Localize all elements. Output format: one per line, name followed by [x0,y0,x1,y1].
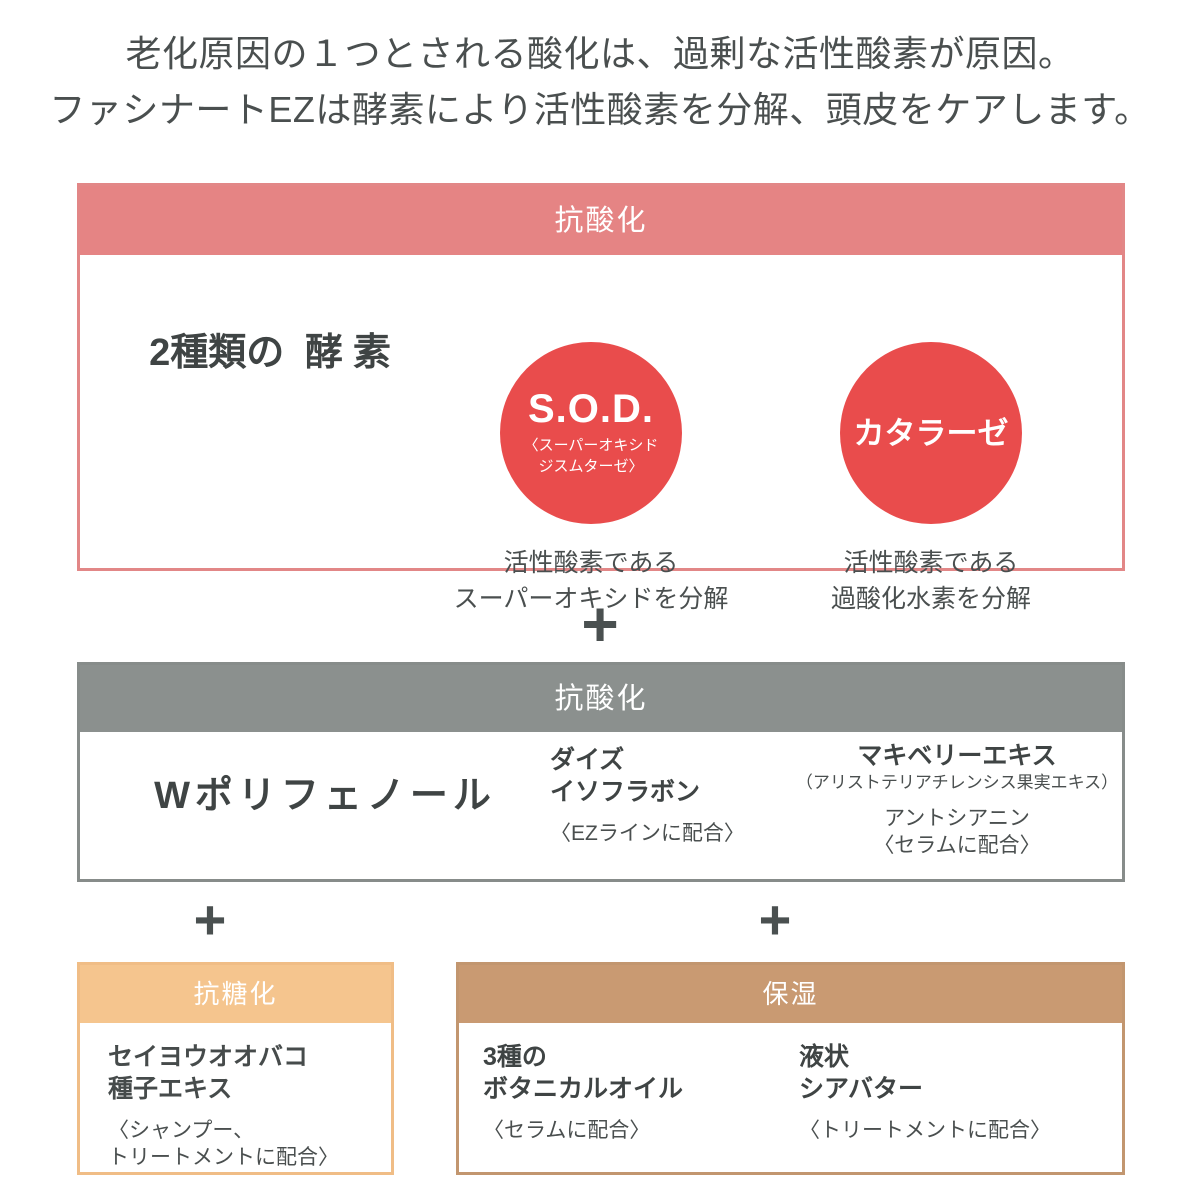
sod-label: S.O.D. [528,389,654,429]
daizu-name: ダイズ イソフラボン [550,744,745,808]
daizu-note-line-1: 〈EZラインに配合〉 [550,820,745,847]
ingredient-botanical-oil: 3種の ボタニカルオイル 〈セラムに配合〉 [483,1041,683,1144]
lead-line-1: 老化原因の１つとされる酸化は、過剰な活性酸素が原因。 [0,26,1200,82]
botanical-name-line-1: 3種の [483,1041,683,1073]
enzyme-title-line-2: 酵素 [295,332,401,374]
enzyme-title-line-1: 2種類の [149,332,284,374]
daizu-name-line-1: ダイズ [550,744,745,776]
plus-icon-main: + [0,592,1200,656]
maqui-note-line-2: 〈セラムに配合〉 [792,832,1122,859]
catalase-circle: カタラーゼ [840,342,1022,524]
maqui-note: アントシアニン 〈セラムに配合〉 [792,805,1122,860]
polyphenol-panel-body: Wポリフェノール ダイズ イソフラボン 〈EZラインに配合〉 マキベリーエキス … [80,732,1122,879]
moisture-panel: 保湿 3種の ボタニカルオイル 〈セラムに配合〉 液状 シアバター 〈トリートメ… [456,962,1125,1175]
enzyme-panel-body: 2種類の 酵素 S.O.D. 〈スーパーオキシド ジスムターゼ〉 カタラーゼ 活… [80,255,1122,568]
moisture-panel-body: 3種の ボタニカルオイル 〈セラムに配合〉 液状 シアバター 〈トリートメントに… [459,1023,1122,1172]
maqui-scientific-name: （アリストテリアチレンシス果実エキス） [792,772,1122,795]
enzyme-panel-title: 2種類の 酵素 [110,323,440,384]
daizu-name-line-2: イソフラボン [550,776,745,808]
lead-paragraph: 老化原因の１つとされる酸化は、過剰な活性酸素が原因。 ファシナートEZは酵素によ… [0,26,1200,138]
sod-caption-line-1: 活性酸素である [421,545,761,581]
botanical-name: 3種の ボタニカルオイル [483,1041,683,1105]
moisture-panel-header: 保湿 [459,965,1122,1023]
polyphenol-panel: 抗酸化 Wポリフェノール ダイズ イソフラボン 〈EZラインに配合〉 マキベリー… [77,662,1125,882]
catalase-caption-line-1: 活性酸素である [761,545,1101,581]
psyllium-note-line-2: トリートメントに配合〉 [108,1144,391,1171]
sod-circle: S.O.D. 〈スーパーオキシド ジスムターゼ〉 [500,342,682,524]
antiglycation-panel: 抗糖化 セイヨウオオバコ 種子エキス 〈シャンプー、 トリートメントに配合〉 [77,962,394,1175]
plus-icon-left: + [150,892,270,948]
daizu-note: 〈EZラインに配合〉 [550,820,745,847]
maqui-name: マキベリーエキス [792,740,1122,772]
botanical-note-line-1: 〈セラムに配合〉 [483,1117,683,1144]
lead-line-2: ファシナートEZは酵素により活性酸素を分解、頭皮をケアします。 [0,82,1200,138]
polyphenol-title: Wポリフェノール [100,764,550,819]
shea-note: 〈トリートメントに配合〉 [799,1117,1051,1144]
plus-icon-right: + [715,892,835,948]
catalase-label: カタラーゼ [854,418,1009,449]
antiglycation-panel-body: セイヨウオオバコ 種子エキス 〈シャンプー、 トリートメントに配合〉 [80,1023,391,1172]
psyllium-note: 〈シャンプー、 トリートメントに配合〉 [108,1117,391,1172]
polyphenol-panel-header: 抗酸化 [80,665,1122,732]
ingredient-maqui-berry-extract: マキベリーエキス （アリストテリアチレンシス果実エキス） アントシアニン 〈セラ… [792,740,1122,860]
antiglycation-panel-header: 抗糖化 [80,965,391,1023]
shea-note-line-1: 〈トリートメントに配合〉 [799,1117,1051,1144]
psyllium-note-line-1: 〈シャンプー、 [108,1117,391,1144]
shea-name-line-2: シアバター [799,1073,1051,1105]
psyllium-name-line-2: 種子エキス [108,1073,391,1105]
sod-sublabel-line-2: ジスムターゼ〉 [524,457,659,478]
botanical-note: 〈セラムに配合〉 [483,1117,683,1144]
maqui-name-line-1: マキベリーエキス [792,740,1122,772]
ingredient-daizu-isoflavone: ダイズ イソフラボン 〈EZラインに配合〉 [550,744,745,847]
enzyme-panel-header: 抗酸化 [80,186,1122,255]
sod-sublabel: 〈スーパーオキシド ジスムターゼ〉 [524,436,659,477]
ingredient-shea-butter: 液状 シアバター 〈トリートメントに配合〉 [799,1041,1051,1144]
shea-name: 液状 シアバター [799,1041,1051,1105]
shea-name-line-1: 液状 [799,1041,1051,1073]
psyllium-name-line-1: セイヨウオオバコ [108,1041,391,1073]
botanical-name-line-2: ボタニカルオイル [483,1073,683,1105]
psyllium-name: セイヨウオオバコ 種子エキス [108,1041,391,1105]
sod-sublabel-line-1: 〈スーパーオキシド [524,436,659,457]
enzyme-panel: 抗酸化 2種類の 酵素 S.O.D. 〈スーパーオキシド ジスムターゼ〉 カタラ… [77,183,1125,571]
maqui-note-line-1: アントシアニン [792,805,1122,832]
